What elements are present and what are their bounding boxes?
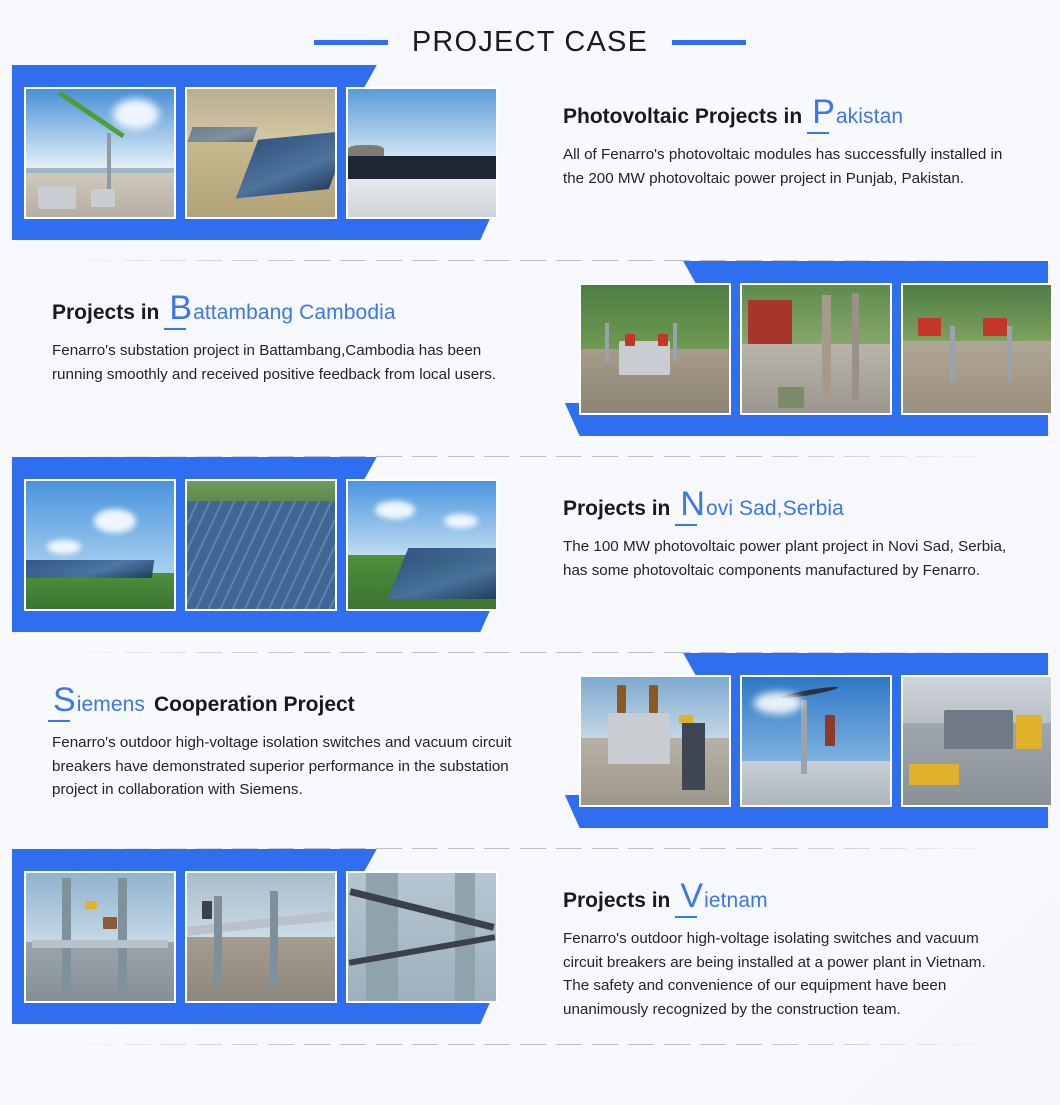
thumbnail-strip: [24, 479, 498, 611]
case-heading-initial: V: [679, 879, 704, 913]
case-text: Projects inVietnamFenarro's outdoor high…: [505, 849, 1060, 1021]
case-heading-location: akistan: [836, 106, 903, 127]
section-divider: [52, 1044, 1012, 1045]
title-rule-right: [672, 40, 746, 45]
case-text: Photovoltaic Projects inPakistanAll of F…: [505, 65, 1060, 190]
page-title: PROJECT CASE: [412, 26, 648, 59]
case-heading-lead: Projects in: [563, 498, 670, 519]
case-photo[interactable]: [346, 87, 498, 219]
case-row: Projects inBattambang CambodiaFenarro's …: [0, 261, 1060, 457]
case-photo[interactable]: [346, 871, 498, 1003]
case-row: SiemensCooperation ProjectFenarro's outd…: [0, 653, 1060, 849]
case-description: Fenarro's outdoor high-voltage isolating…: [563, 927, 1014, 1021]
thumbnail-strip: [579, 675, 1053, 807]
case-text: Projects inBattambang CambodiaFenarro's …: [0, 261, 555, 386]
case-heading-location: ietnam: [704, 890, 768, 911]
case-photo[interactable]: [24, 87, 176, 219]
case-photo[interactable]: [579, 675, 731, 807]
case-heading-initial: B: [168, 291, 193, 325]
case-gallery: [0, 65, 505, 240]
case-heading-initial: S: [52, 683, 77, 717]
case-heading-initial: P: [811, 95, 836, 129]
case-photo[interactable]: [579, 283, 731, 415]
case-heading: Photovoltaic Projects inPakistan: [563, 95, 1014, 129]
case-heading-location: attambang Cambodia: [193, 302, 396, 323]
case-heading-initial: N: [679, 487, 706, 521]
case-text: Projects inNovi Sad,SerbiaThe 100 MW pho…: [505, 457, 1060, 582]
case-heading: SiemensCooperation Project: [52, 683, 513, 717]
case-description: Fenarro's substation project in Battamba…: [52, 339, 513, 386]
thumbnail-strip: [24, 87, 498, 219]
case-description: The 100 MW photovoltaic power plant proj…: [563, 535, 1014, 582]
case-photo[interactable]: [185, 87, 337, 219]
case-gallery: [0, 457, 505, 632]
case-heading-suffix: Cooperation Project: [154, 694, 355, 715]
case-photo[interactable]: [740, 283, 892, 415]
case-photo[interactable]: [185, 479, 337, 611]
case-heading-lead: Projects in: [52, 302, 159, 323]
case-photo[interactable]: [346, 479, 498, 611]
case-photo[interactable]: [901, 283, 1053, 415]
case-list: Photovoltaic Projects inPakistanAll of F…: [0, 65, 1060, 1045]
case-heading: Projects inNovi Sad,Serbia: [563, 487, 1014, 521]
case-row: Projects inVietnamFenarro's outdoor high…: [0, 849, 1060, 1045]
case-heading-lead: Photovoltaic Projects in: [563, 106, 802, 127]
case-photo[interactable]: [24, 871, 176, 1003]
case-heading: Projects inBattambang Cambodia: [52, 291, 513, 325]
case-row: Projects inNovi Sad,SerbiaThe 100 MW pho…: [0, 457, 1060, 653]
case-heading: Projects inVietnam: [563, 879, 1014, 913]
case-photo[interactable]: [185, 871, 337, 1003]
case-row: Photovoltaic Projects inPakistanAll of F…: [0, 65, 1060, 261]
case-photo[interactable]: [740, 675, 892, 807]
thumbnail-strip: [24, 871, 498, 1003]
case-photo[interactable]: [901, 675, 1053, 807]
title-rule-left: [314, 40, 388, 45]
case-gallery: [555, 261, 1060, 436]
case-heading-lead: Projects in: [563, 890, 670, 911]
case-description: All of Fenarro's photovoltaic modules ha…: [563, 143, 1014, 190]
case-photo[interactable]: [24, 479, 176, 611]
case-description: Fenarro's outdoor high-voltage isolation…: [52, 731, 513, 802]
case-gallery: [0, 849, 505, 1024]
case-gallery: [555, 653, 1060, 828]
case-heading-location: ovi Sad,Serbia: [706, 498, 844, 519]
case-heading-location: iemens: [77, 694, 145, 715]
page-header: PROJECT CASE: [0, 0, 1060, 65]
thumbnail-strip: [579, 283, 1053, 415]
case-text: SiemensCooperation ProjectFenarro's outd…: [0, 653, 555, 802]
